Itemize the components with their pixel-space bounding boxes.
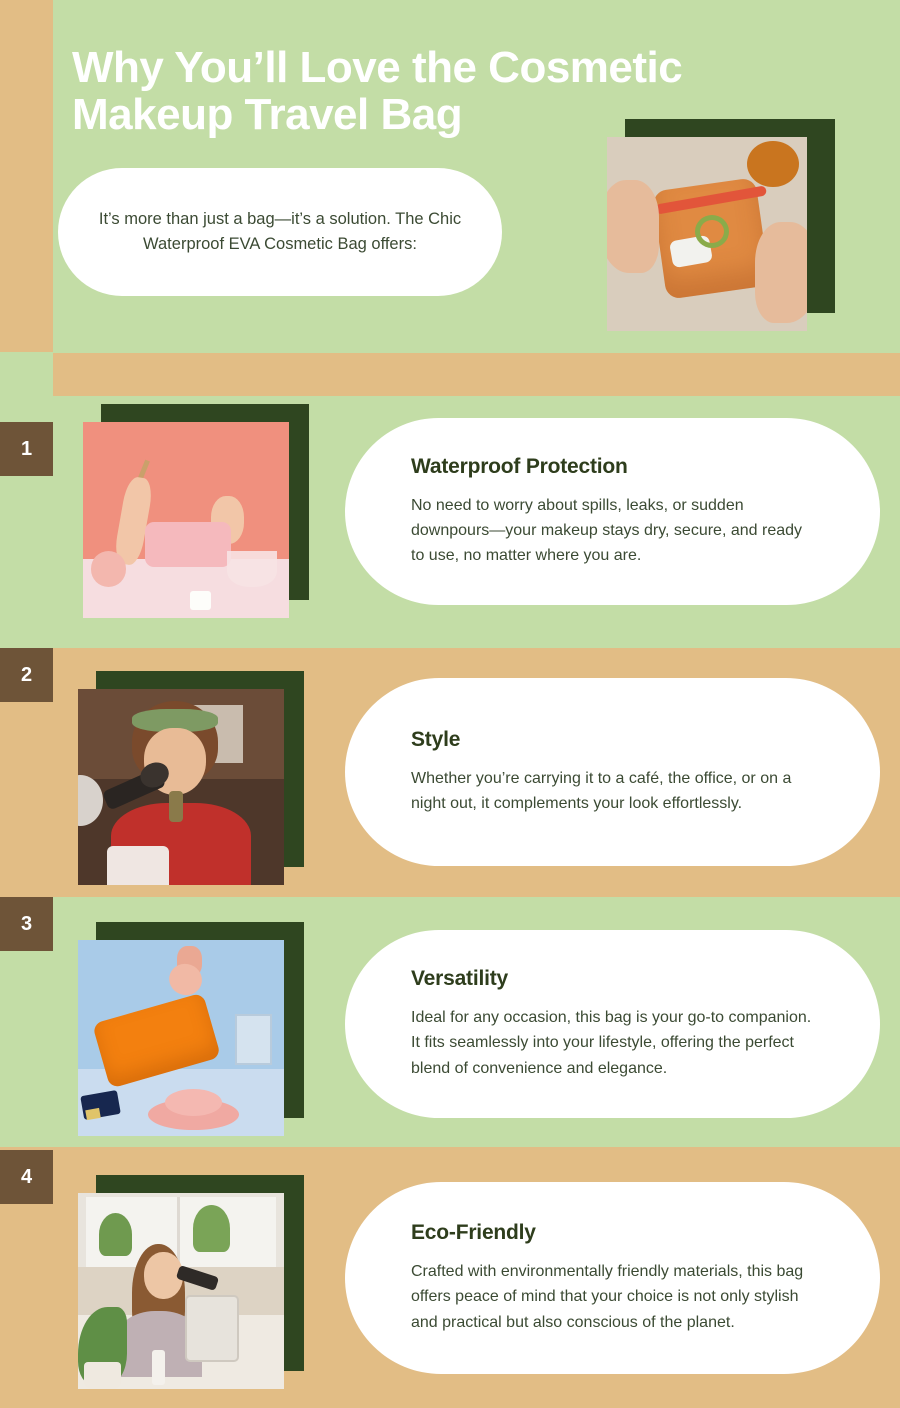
hero-image-photo bbox=[607, 137, 807, 331]
feature-thumbnail-photo-4 bbox=[78, 1193, 284, 1389]
feature-number-3: 3 bbox=[21, 913, 32, 936]
feature-thumbnail-photo-1 bbox=[83, 422, 289, 618]
infographic-poster: Why You’ll Love the Cosmetic Makeup Trav… bbox=[0, 0, 900, 1408]
feature-number-2: 2 bbox=[21, 664, 32, 687]
feature-body-2: Whether you’re carrying it to a café, th… bbox=[411, 766, 814, 817]
feature-title-2: Style bbox=[411, 728, 814, 752]
feature-row-4: 4 Eco-Friendly Crafted with environment bbox=[0, 1147, 900, 1408]
intro-text: It’s more than just a bag—it’s a solutio… bbox=[92, 207, 468, 257]
hero-image-wrap bbox=[607, 119, 835, 331]
feature-number-badge-4: 4 bbox=[0, 1150, 53, 1204]
feature-card-2: Style Whether you’re carrying it to a ca… bbox=[345, 678, 880, 866]
feature-number-1: 1 bbox=[21, 438, 32, 461]
feature-row-3: 3 Versatility Ideal for any occasion, th… bbox=[0, 897, 900, 1147]
feature-title-1: Waterproof Protection bbox=[411, 455, 814, 479]
feature-body-3: Ideal for any occasion, this bag is your… bbox=[411, 1005, 814, 1081]
feature-card-3: Versatility Ideal for any occasion, this… bbox=[345, 930, 880, 1118]
feature-number-4: 4 bbox=[21, 1166, 32, 1189]
feature-thumbnail-photo-3 bbox=[78, 940, 284, 1136]
feature-thumbnail-4 bbox=[78, 1175, 312, 1389]
feature-body-4: Crafted with environmentally friendly ma… bbox=[411, 1259, 814, 1335]
feature-number-badge-3: 3 bbox=[0, 897, 53, 951]
feature-row-1: 1 Waterproof Protection No need to worry… bbox=[0, 396, 900, 648]
feature-number-badge-2: 2 bbox=[0, 648, 53, 702]
feature-title-3: Versatility bbox=[411, 967, 814, 991]
feature-title-4: Eco-Friendly bbox=[411, 1221, 814, 1245]
feature-thumbnail-1 bbox=[83, 404, 317, 618]
intro-callout-pill: It’s more than just a bag—it’s a solutio… bbox=[58, 168, 502, 296]
feature-row-2: 2 Style Whether you’re carrying it to a … bbox=[0, 648, 900, 897]
feature-thumbnail-3 bbox=[78, 922, 312, 1136]
feature-card-4: Eco-Friendly Crafted with environmentall… bbox=[345, 1182, 880, 1374]
feature-thumbnail-photo-2 bbox=[78, 689, 284, 885]
header-divider-band bbox=[53, 353, 900, 396]
feature-body-1: No need to worry about spills, leaks, or… bbox=[411, 493, 814, 569]
feature-number-badge-1: 1 bbox=[0, 422, 53, 476]
header-left-accent-strip bbox=[0, 0, 53, 352]
header-section: Why You’ll Love the Cosmetic Makeup Trav… bbox=[0, 0, 900, 352]
feature-thumbnail-2 bbox=[78, 671, 312, 885]
feature-card-1: Waterproof Protection No need to worry a… bbox=[345, 418, 880, 605]
